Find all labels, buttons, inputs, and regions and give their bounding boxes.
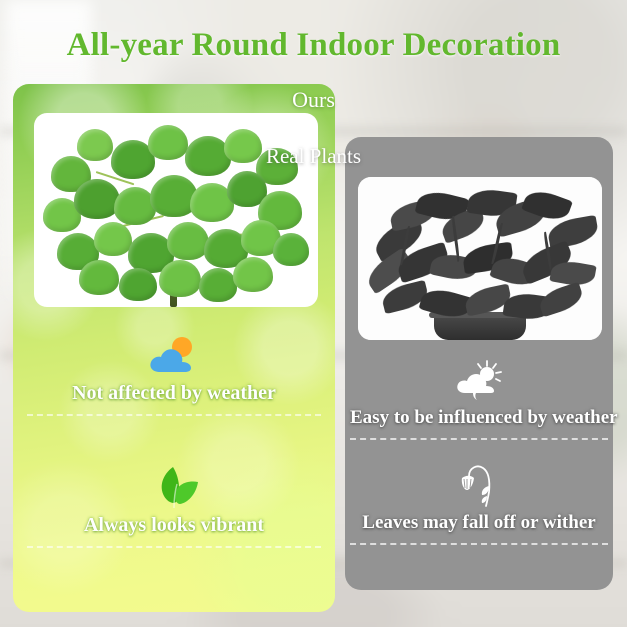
feature-real-wither: Leaves may fall off or wither [350,462,608,545]
feature-real-weather: Easy to be influenced by weather [350,357,608,440]
product-photo-real-plants [358,177,602,340]
product-photo-ours [34,113,318,307]
withered-plant-illustration [358,177,602,340]
feature-label: Always looks vibrant [27,514,321,537]
feature-divider [27,546,321,548]
feature-divider [27,414,321,416]
page-title: All-year Round Indoor Decoration [0,27,627,64]
feature-divider [350,438,608,440]
panel-heading-real-plants: Real Plants [0,144,627,169]
feature-ours-vibrant: Always looks vibrant [27,464,321,548]
wilting-flower-icon [350,462,608,508]
infographic-stage: All-year Round Indoor Decoration Ours [0,0,627,627]
green-leaves-icon [27,464,321,510]
feature-label: Easy to be influenced by weather [350,407,608,429]
panel-heading-ours: Ours [0,87,627,113]
feature-divider [350,543,608,545]
green-plant-illustration [34,113,318,307]
feature-ours-weather: Not affected by weather [27,332,321,416]
sun-behind-cloud-icon [27,332,321,378]
feature-label: Not affected by weather [27,382,321,405]
cloud-with-sun-rays-icon [350,357,608,403]
feature-label: Leaves may fall off or wither [350,512,608,534]
